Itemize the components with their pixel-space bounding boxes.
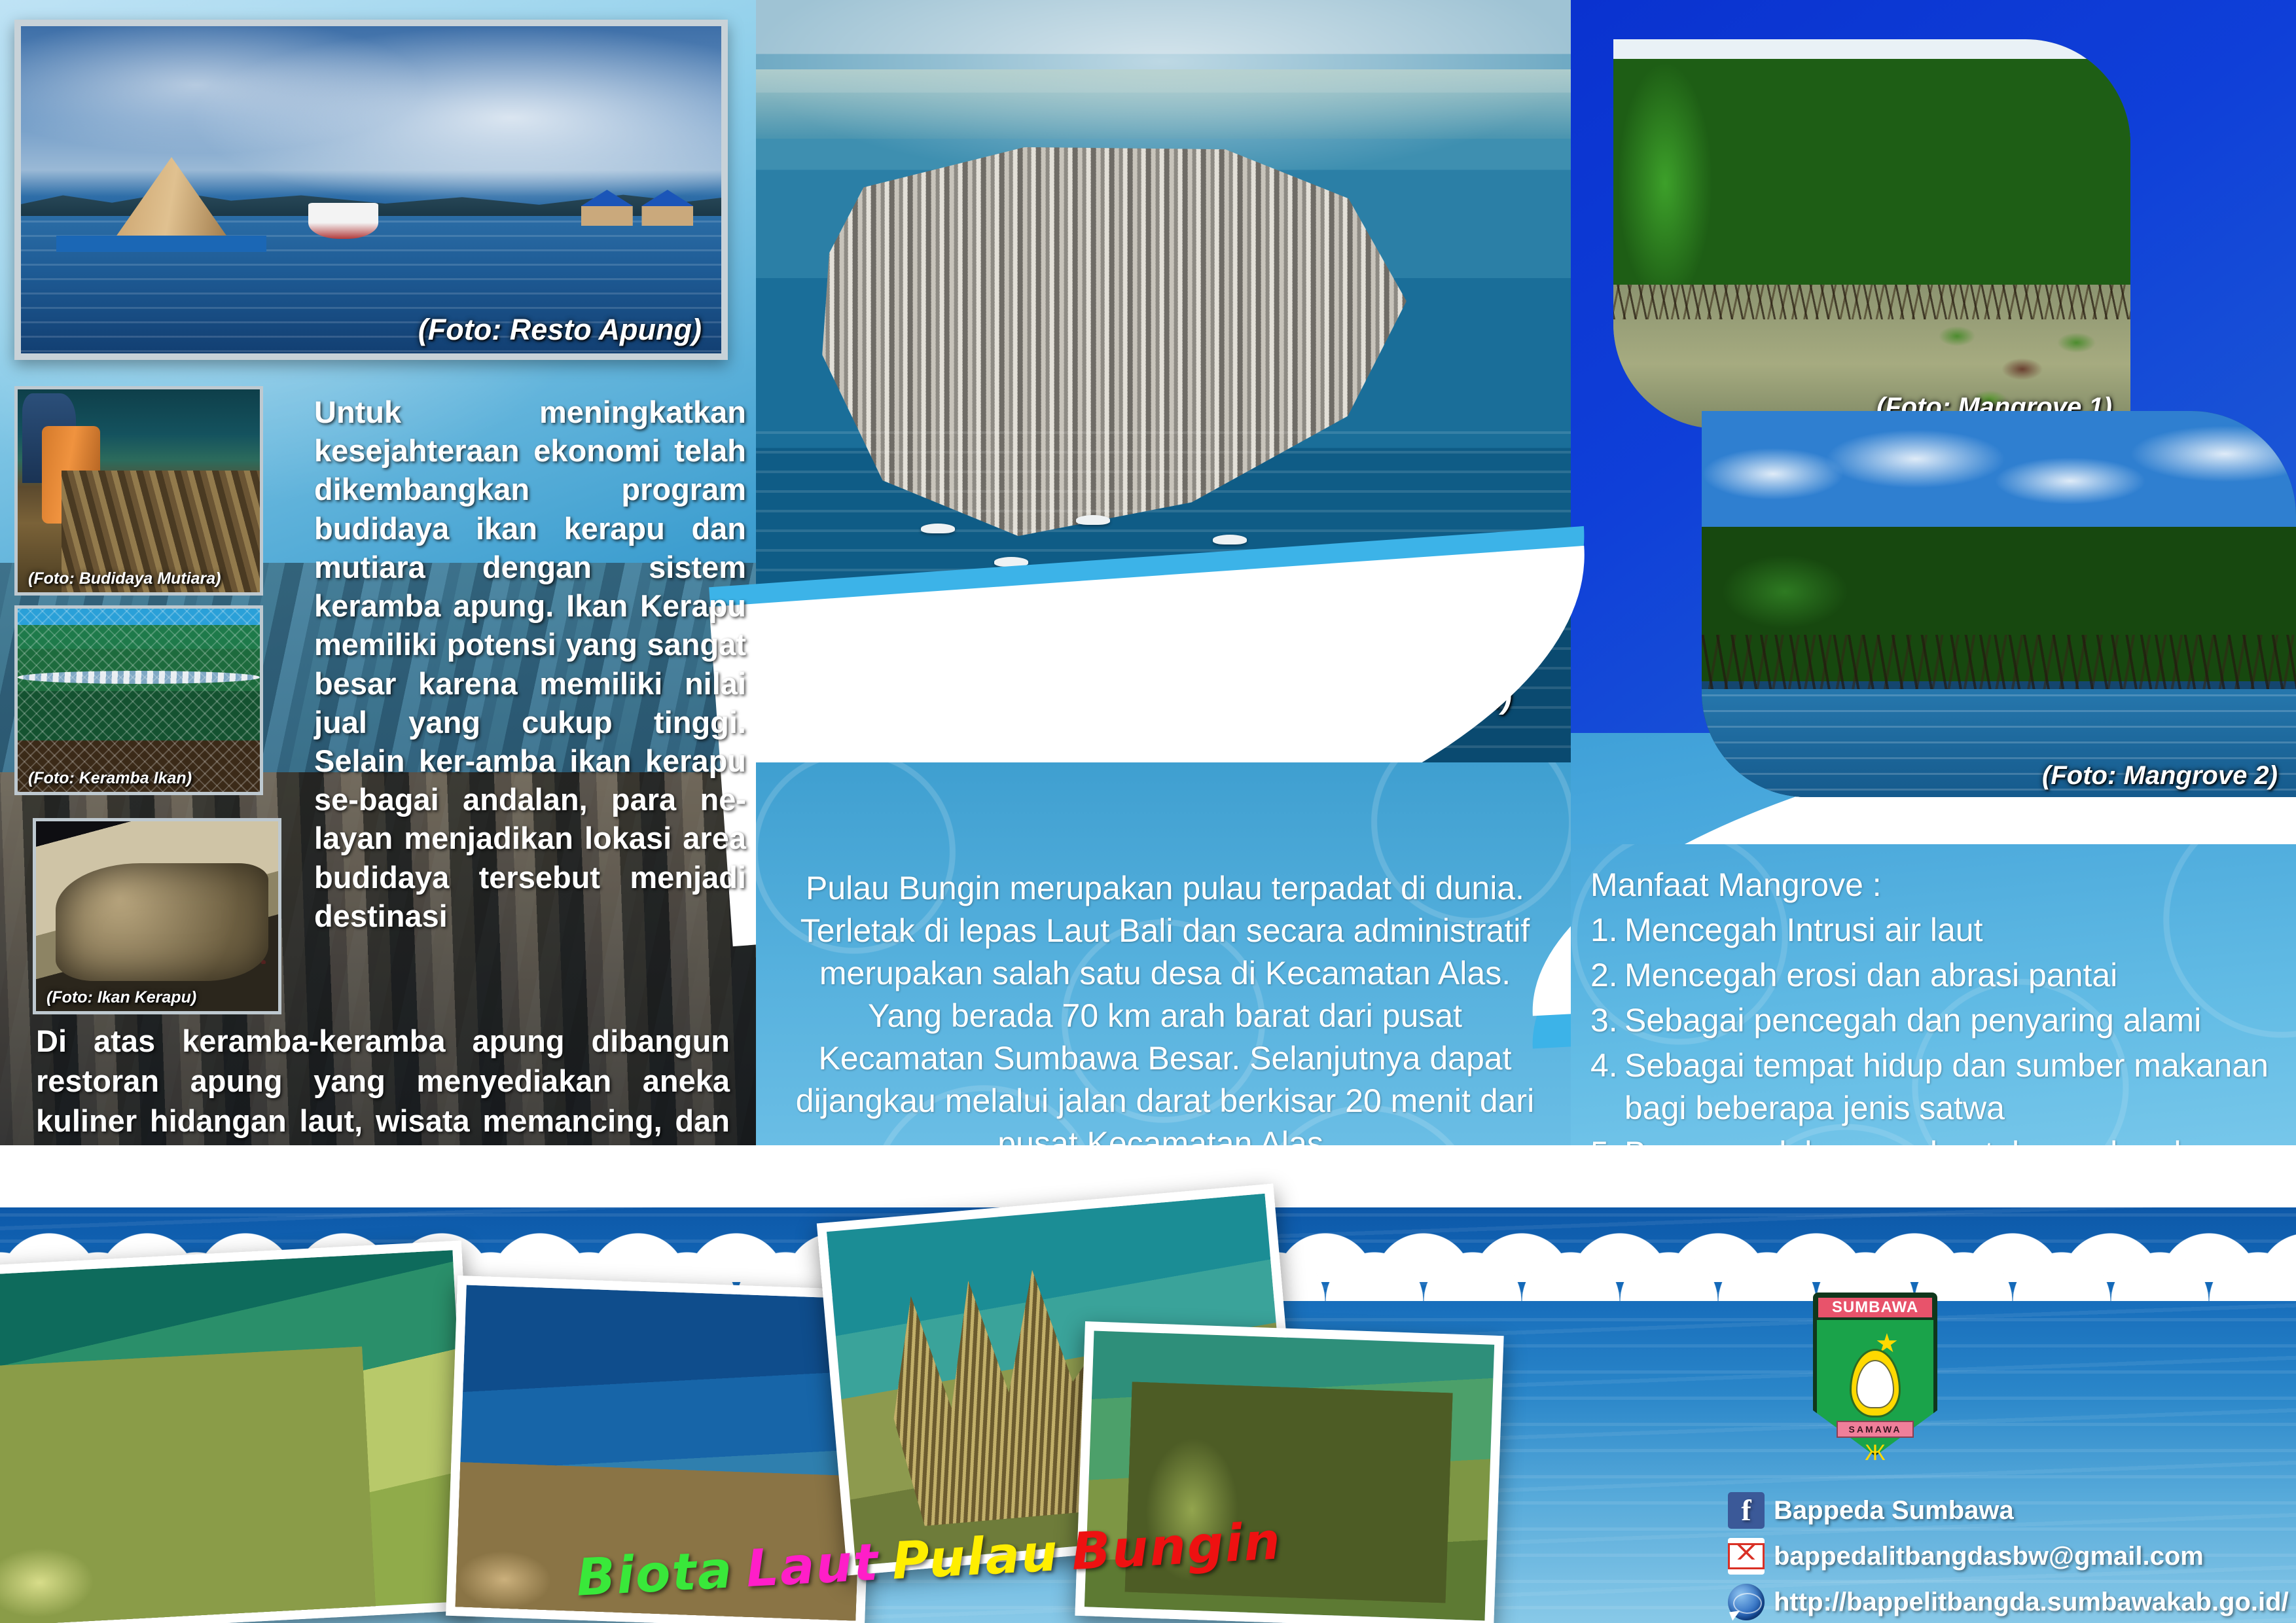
website-url: http://bappelitbangda.sumbawakab.go.id/ [1774,1588,2289,1617]
email-address: bappedalitbangdasbw@gmail.com [1774,1542,2204,1571]
emblem-top-band: SUMBAWA [1816,1295,1935,1320]
resto-apung-artwork [21,26,721,353]
list-item-label: Mencegah erosi dan abrasi pantai [1624,954,2271,997]
photo-keramba-ikan: (Foto: Keramba Ikan) [14,605,263,795]
list-item-number: 3. [1590,999,1624,1042]
caption-resto-apung: (Foto: Resto Apung) [418,313,702,347]
list-item-label: Sebagai pencegah dan penyaring alami [1624,999,2271,1042]
photo-budidaya-mutiara: (Foto: Budidaya Mutiara) [14,386,263,596]
mangrove-benefits-heading: Manfaat Mangrove : [1590,864,2271,906]
photo-mangrove-2: (Foto: Mangrove 2) [1702,411,2296,797]
list-item-number: 4. [1590,1044,1624,1130]
caption-budidaya-mutiara: (Foto: Budidaya Mutiara) [28,569,221,588]
list-item: 4. Sebagai tempat hidup dan sumber makan… [1590,1044,2271,1130]
facebook-handle: Bappeda Sumbawa [1774,1496,2014,1525]
keramba-ikan-artwork [18,609,260,792]
contact-facebook-row[interactable]: f Bappeda Sumbawa [1728,1492,2289,1529]
facebook-icon: f [1728,1492,1765,1529]
biota-word-3: Pulau [891,1524,1060,1591]
list-item: 3. Sebagai pencegah dan penyaring alami [1590,999,2271,1042]
mangrove-2-artwork [1702,411,2296,797]
caption-ikan-kerapu: (Foto: Ikan Kerapu) [46,988,196,1007]
list-item: 2. Mencegah erosi dan abrasi pantai [1590,954,2271,997]
ikan-kerapu-artwork [36,821,278,1011]
biota-word-4: Bungin [1070,1512,1283,1582]
globe-icon [1728,1584,1765,1620]
list-item-label: Sebagai tempat hidup dan sumber makanan … [1624,1044,2271,1130]
contact-website-row[interactable]: http://bappelitbangda.sumbawakab.go.id/ [1728,1584,2289,1620]
photo-mangrove-1: (Foto: Mangrove 1) [1613,39,2130,429]
left-paragraph-1: Untuk meningkatkan kesejahteraan ekonomi… [314,393,746,935]
list-item: 1. Mencegah Intrusi air laut [1590,909,2271,952]
contact-email-row[interactable]: bappedalitbangdasbw@gmail.com [1728,1538,2289,1575]
list-item-number: 1. [1590,909,1624,952]
center-paragraph: Pulau Bungin merupakan pulau terpadat di… [785,867,1545,1165]
list-item-number: 2. [1590,954,1624,997]
biota-word-1: Biota [575,1541,734,1607]
contact-block: f Bappeda Sumbawa bappedalitbangdasbw@gm… [1728,1492,2289,1623]
emblem-ribbon: SAMAWA [1837,1421,1914,1438]
biota-word-2: Laut [745,1533,881,1599]
brochure-poster: (Foto: Pulau Bungin) (Foto: Resto Apung)… [0,0,2296,1623]
caption-keramba-ikan: (Foto: Keramba Ikan) [28,769,192,788]
mangrove-1-artwork [1613,39,2130,429]
caption-mangrove-2: (Foto: Mangrove 2) [2042,761,2278,791]
gmail-icon [1728,1538,1765,1575]
sumbawa-emblem: SUMBAWA ★ SAMAWA Ж [1813,1293,1937,1456]
deer-icon: Ж [1865,1442,1885,1464]
photo-biota-coral-1 [0,1240,480,1623]
photo-ikan-kerapu: (Foto: Ikan Kerapu) [33,818,281,1014]
budidaya-mutiara-artwork [18,389,260,592]
photo-resto-apung: (Foto: Resto Apung) [14,20,728,360]
list-item-label: Mencegah Intrusi air laut [1624,909,2271,952]
